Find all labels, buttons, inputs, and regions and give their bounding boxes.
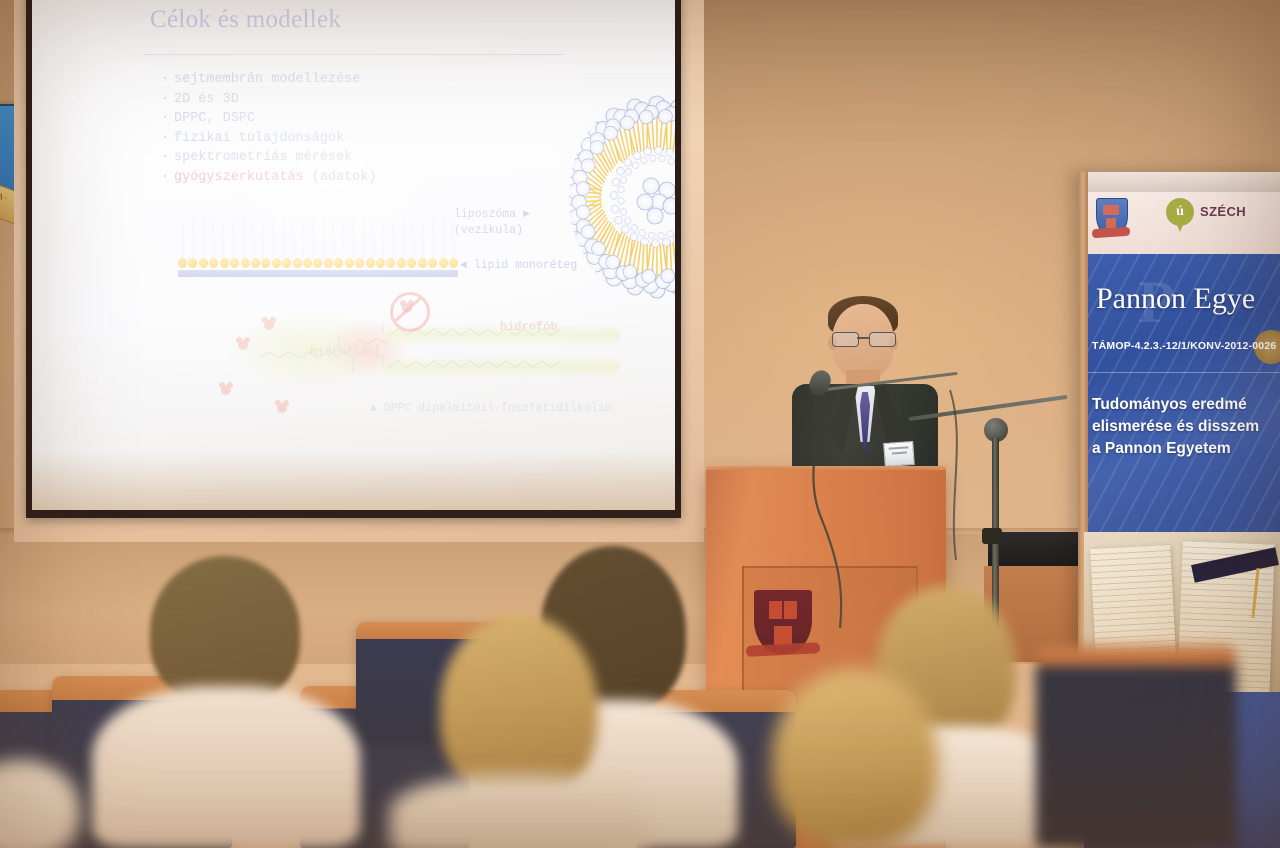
lipid-monolayer-figure — [178, 218, 458, 280]
slide-title: Célok és modellek — [150, 6, 341, 34]
bullet-item: sejtmembrán modellezése — [174, 70, 377, 90]
banner-project-code: TÁMOP-4.2.3.-12/1/KONV-2012-0026 — [1092, 340, 1276, 352]
slide-bullet-list: sejtmembrán modellezése 2D és 3D DPPC, D… — [174, 70, 377, 187]
bullet-text: fizikai tulajdonságok — [174, 131, 344, 146]
microphone-stand — [960, 398, 1090, 628]
bullet-text-highlight: gyógyszerkutatás — [174, 170, 304, 185]
bullet-item: DPPC, DSPC — [174, 109, 377, 129]
hydrophobic-label: hidrofób — [500, 320, 558, 334]
graduation-cap-icon — [1192, 534, 1280, 604]
mic-cable-clip — [982, 528, 1002, 544]
uj-szechenyi-terv-logo: ú SZÉCH — [1166, 196, 1262, 238]
hydrophilic-label: hidrofil — [310, 345, 368, 359]
lipid-tails-icon — [178, 218, 458, 258]
glasses-icon — [830, 332, 896, 345]
water-molecule-icon — [275, 400, 289, 414]
presentation-photo-scene: ·ONICA· Célok és modellek mta ttk — [0, 0, 1280, 848]
bullet-item-highlighted: gyógyszerkutatás (adatok) — [174, 168, 377, 188]
tower-icon — [1106, 218, 1116, 228]
water-surface-bar — [178, 270, 458, 277]
banner-subtitle-line: elismerése és disszem — [1092, 416, 1280, 438]
audience-shoulders — [92, 686, 360, 848]
book-icon — [1103, 205, 1119, 215]
banner-university-crest — [1096, 198, 1126, 242]
slide-title-rule — [144, 54, 564, 55]
slide: Célok és modellek mta ttk sejtmembrán m — [32, 0, 675, 510]
bullet-text: sejtmembrán modellezése — [174, 72, 360, 87]
screen-bottom-shadow — [32, 450, 675, 510]
banner-university-title: Pannon Egye — [1096, 282, 1255, 316]
banner-top-rail — [1084, 172, 1280, 192]
audience-head — [772, 668, 938, 848]
monolayer-label: ◄ lipid monoréteg — [460, 259, 577, 272]
bullet-text: 2D és 3D — [174, 92, 239, 107]
bullet-text: spektrometriás mérések — [174, 150, 352, 165]
uj-szechenyi-label: SZÉCH — [1200, 204, 1246, 219]
bullet-text-suffix: (adatok) — [304, 170, 377, 185]
water-molecule-icon — [219, 382, 233, 396]
banner-subtitle: Tudományos eredmé elismerése és disszem … — [1092, 394, 1280, 460]
dppc-caption: ▲ DPPC dipalmitoil-foszfatidilkolin — [370, 402, 612, 415]
liposome-label: liposzóma ► — [454, 208, 530, 221]
audience-head — [150, 556, 300, 706]
bullet-text: DPPC, DSPC — [174, 111, 255, 126]
banner-subtitle-line: a Pannon Egyetem — [1092, 438, 1280, 460]
bullet-item: fizikai tulajdonságok — [174, 129, 377, 149]
chair — [1036, 646, 1236, 848]
banner-divider — [1088, 372, 1280, 373]
lipid-headgroups-icon — [178, 258, 458, 269]
uj-pin-letter: ú — [1166, 198, 1194, 226]
bullet-item: 2D és 3D — [174, 90, 377, 110]
audience-shoulders — [390, 776, 648, 848]
liposome-figure-icon — [567, 90, 675, 305]
water-molecule-icon — [400, 300, 414, 314]
crest-ribbon — [746, 642, 820, 657]
water-molecule-icon — [236, 337, 250, 351]
audience-head — [440, 614, 598, 800]
bullet-item: spektrometriás mérések — [174, 148, 377, 168]
water-molecule-icon — [262, 317, 276, 331]
cap-board — [1191, 547, 1279, 582]
projection-screen: Célok és modellek mta ttk sejtmembrán m — [32, 0, 675, 510]
banner-subtitle-line: Tudományos eredmé — [1092, 394, 1280, 416]
liposome-alt-label: (vezikula) — [454, 224, 523, 237]
crest-ribbon — [1092, 227, 1131, 239]
